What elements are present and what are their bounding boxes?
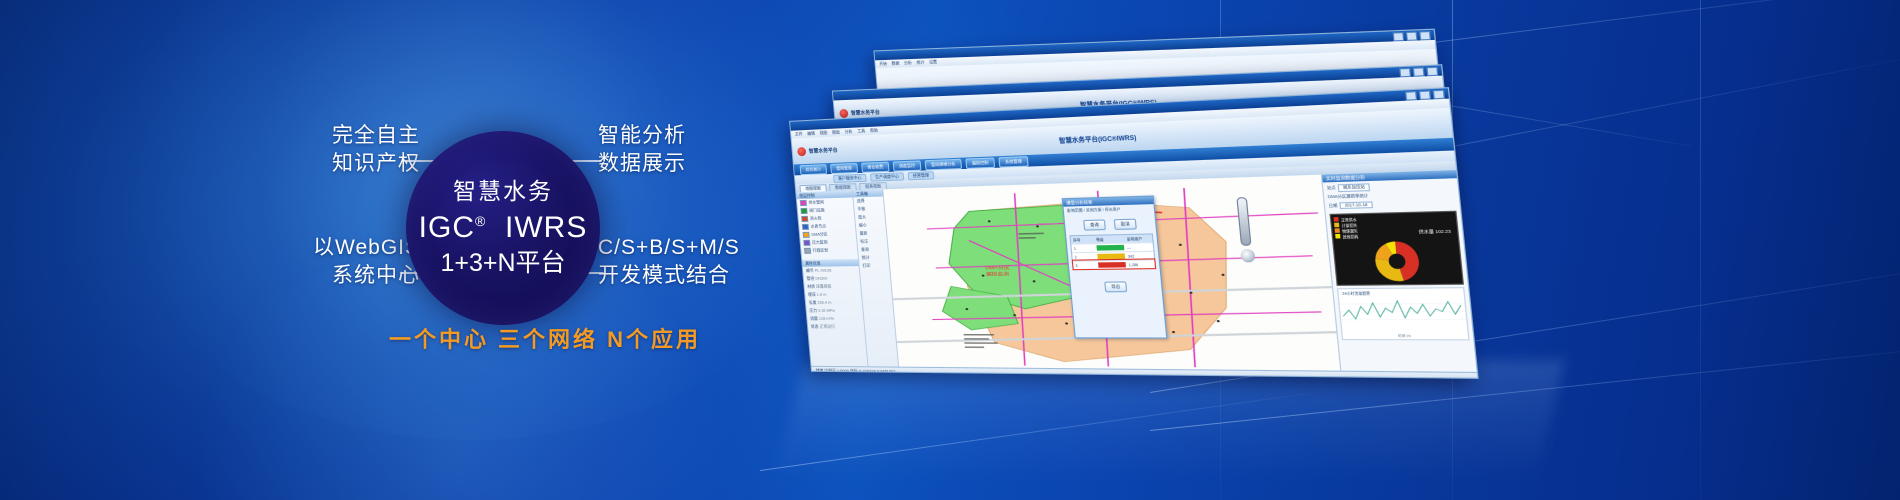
- subnav-item[interactable]: 客户服务中心: [833, 173, 867, 182]
- property-value: DN300: [815, 276, 827, 281]
- menu-item[interactable]: 统计: [916, 60, 924, 66]
- layer-swatch: [803, 240, 810, 246]
- property-row: 压力 0.32 MPa: [806, 307, 863, 315]
- nav-item[interactable]: 管网管理: [830, 162, 858, 173]
- layer-swatch: [800, 200, 807, 206]
- front-brand: 智慧水务平台: [808, 146, 837, 154]
- feature-line2: 开发模式结合: [598, 262, 740, 290]
- hub-circle: 智慧水务 IGC® IWRS 1+3+N平台: [406, 131, 600, 325]
- property-value: 球墨铸铁: [816, 284, 832, 289]
- layer-label: 行政区划: [813, 248, 829, 253]
- company-logo-icon: [839, 108, 848, 117]
- row-index: 2: [1072, 253, 1096, 260]
- column-header: 影响用户: [1124, 235, 1152, 243]
- burst-analysis-dialog[interactable]: 爆管分析结果 影响范围 / 关阀方案 / 停水用户 查询 取消 序号 等级 影响…: [1062, 195, 1168, 338]
- row-index: 3: [1073, 262, 1097, 269]
- trend-axis-label: 时间 (h): [1398, 333, 1412, 338]
- feature-label-top-left: 完全自主 知识产权: [300, 122, 420, 178]
- feature-label-bottom-right: C/S+B/S+M/S 开发模式结合: [598, 234, 740, 290]
- property-value: 正常运行: [819, 324, 835, 329]
- tool-item[interactable]: 打印: [859, 262, 889, 271]
- layer-label: 消火栓: [810, 216, 822, 221]
- menu-item[interactable]: 开始: [879, 61, 887, 67]
- flow-trend-chart: 24小时流量趋势 时间 (h): [1337, 287, 1470, 340]
- layer-label: 阀门设施: [809, 207, 825, 212]
- nav-item[interactable]: 综合展示: [800, 164, 828, 175]
- property-row: 长度 256.4 m: [806, 299, 863, 307]
- layer-swatch: [802, 224, 809, 230]
- menu-item[interactable]: 文件: [795, 131, 803, 137]
- menu-item[interactable]: 分析: [904, 60, 912, 66]
- front-gis-body: 图层控制 供水管网 阀门设施 消火栓 水表节点 DMA分区 压力监测 行政区划 …: [796, 170, 1476, 372]
- dialog-buttons[interactable]: 查询 取消: [1065, 218, 1156, 231]
- layer-swatch: [800, 208, 807, 214]
- property-key: 材质: [807, 284, 815, 289]
- leakage-donut-chart: 正常供水 计量损失 物理漏失 其他损耗 供水量 102.23: [1330, 211, 1464, 286]
- export-button[interactable]: 导出: [1104, 281, 1127, 292]
- feature-label-bottom-left: 以WebGIS 系统中心: [290, 234, 420, 290]
- level-bar: [1098, 262, 1126, 268]
- menu-item[interactable]: 视图: [819, 130, 827, 136]
- grid-vertical-right: [1700, 0, 1701, 500]
- gauge-title: 供水量 102.23: [1418, 228, 1451, 236]
- layer-label: 水表节点: [810, 224, 826, 229]
- feature-line1: 完全自主: [300, 122, 420, 150]
- window-front-gis[interactable]: 文件 编辑 视图 图层 分析 工具 帮助 智慧水务平台 智慧水务平台(IGC®I…: [789, 87, 1479, 379]
- front-menus: [793, 124, 794, 129]
- layer-label: 供水管网: [808, 199, 824, 204]
- map-canvas[interactable]: DMA分区 漏损监测 爆管分析结果 影响范围 / 关阀方案 / 停水用户 查询 …: [883, 175, 1340, 371]
- property-value: 128 m³/h: [819, 316, 835, 321]
- hub-line2: IGC® IWRS: [419, 208, 588, 247]
- subnav-item[interactable]: 生产调度中心: [870, 172, 904, 181]
- nav-item[interactable]: 漏损控制: [965, 157, 995, 169]
- nav-item[interactable]: 管网建模分析: [925, 158, 963, 170]
- feature-line2: 系统中心: [290, 262, 420, 290]
- layer-swatch: [803, 232, 810, 238]
- property-value: 256.4 m: [817, 300, 831, 305]
- property-key: 压力: [809, 308, 817, 313]
- donut-svg: [1370, 240, 1424, 282]
- nav-item[interactable]: 营业收费: [861, 161, 889, 172]
- layer-swatch: [804, 248, 811, 254]
- row-index: 1: [1071, 245, 1095, 252]
- field-label: 站点: [1327, 185, 1336, 191]
- front-title: 智慧水务平台(IGC®IWRS): [1059, 132, 1137, 145]
- back-menu-hints: [877, 53, 879, 58]
- feature-label-top-right: 智能分析 数据展示: [598, 122, 686, 178]
- trend-svg: [1339, 295, 1467, 328]
- nav-item[interactable]: 系统管理: [998, 156, 1028, 168]
- column-header: 序号: [1071, 236, 1095, 244]
- property-list: 编号 PL-00128 管径 DN300 材质 球墨铸铁 埋深 1.8 m 长度…: [803, 267, 865, 332]
- menu-item[interactable]: 编辑: [807, 131, 815, 137]
- table-header: 序号 等级 影响用户: [1071, 235, 1153, 244]
- menu-item[interactable]: 数据: [891, 60, 899, 66]
- level-bar: [1096, 245, 1124, 251]
- layer-item[interactable]: 行政区划: [801, 246, 857, 255]
- feature-line2: 数据展示: [598, 150, 686, 178]
- property-key: 编号: [806, 268, 814, 273]
- screenshot-stack: 遥感影像管网叠加: [800, 50, 1520, 370]
- mid-brand: 智慧水务平台: [851, 108, 880, 116]
- query-button[interactable]: 查询: [1083, 219, 1106, 230]
- hub-iwrs: IWRS: [505, 211, 587, 244]
- monitor-panel[interactable]: 实时监测数据分析 站点 城东加压站 DMA分区漏损率统计 日期 2017-10-…: [1321, 170, 1477, 372]
- field-label: 日期: [1328, 203, 1337, 209]
- hub-igc: IGC: [419, 211, 475, 244]
- property-value: 0.32 MPa: [818, 308, 835, 313]
- layer-list[interactable]: 供水管网 阀门设施 消火栓 水表节点 DMA分区 压力监测 行政区划: [797, 197, 858, 255]
- window-controls[interactable]: [1392, 30, 1430, 40]
- mid-title-hint: [836, 93, 838, 98]
- donut-legend: 正常供水 计量损失 物理漏失 其他损耗: [1333, 217, 1358, 240]
- menu-item[interactable]: 帮助: [870, 128, 878, 134]
- property-value: PL-00128: [814, 268, 831, 273]
- layer-swatch: [801, 216, 808, 222]
- property-row: 流量 128 m³/h: [807, 315, 864, 323]
- feature-line1: C/S+B/S+M/S: [598, 234, 740, 262]
- property-key: 长度: [809, 300, 817, 305]
- banner-stage: 完全自主 知识产权 以WebGIS 系统中心 智慧水务 IGC® IWRS 1+…: [0, 0, 1900, 500]
- registered-icon: ®: [475, 213, 486, 229]
- legend-label: 其他损耗: [1343, 235, 1359, 240]
- column-header: 等级: [1094, 235, 1126, 243]
- feature-line1: 智能分析: [598, 122, 686, 150]
- level-bar: [1097, 253, 1125, 259]
- dialog-footer[interactable]: 导出: [1070, 273, 1162, 293]
- tagline: 一个中心 三个网络 N个应用: [355, 322, 735, 354]
- pan-pad-icon[interactable]: [1240, 249, 1255, 262]
- row-users: 342: [1125, 252, 1154, 259]
- property-value: 1.8 m: [817, 292, 827, 297]
- row-users: 1,286: [1126, 261, 1155, 268]
- property-row: 状态 正常运行: [808, 323, 865, 331]
- layer-label: 压力监测: [812, 240, 828, 245]
- table-row[interactable]: 3 1,286: [1073, 259, 1155, 269]
- layer-label: DMA分区: [811, 232, 828, 237]
- feature-line1: 以WebGIS: [290, 234, 420, 262]
- property-key: 流量: [810, 316, 818, 321]
- dialog-table: 序号 等级 影响用户 1 — 2: [1069, 233, 1156, 270]
- row-users: —: [1125, 244, 1154, 251]
- hub-line3: 1+3+N平台: [440, 247, 565, 280]
- menu-item[interactable]: 设置: [929, 59, 937, 65]
- hub-line1: 智慧水务: [453, 177, 553, 206]
- feature-line2: 知识产权: [300, 150, 420, 178]
- nav-item[interactable]: 调度监控: [893, 160, 922, 171]
- menu-item[interactable]: 图层: [832, 129, 840, 135]
- menu-item[interactable]: 分析: [844, 129, 852, 135]
- field-value[interactable]: 城东加压站: [1338, 183, 1371, 192]
- menu-item[interactable]: 工具: [857, 128, 865, 134]
- property-key: 管径: [806, 276, 814, 281]
- company-logo-icon: [797, 147, 806, 156]
- subnav-item[interactable]: 经营管理: [908, 171, 935, 180]
- property-key: 状态: [811, 324, 819, 329]
- property-key: 埋深: [808, 292, 816, 297]
- cancel-button[interactable]: 取消: [1114, 219, 1137, 230]
- window-controls[interactable]: [1405, 89, 1445, 100]
- field-value[interactable]: 2017-10-18: [1340, 201, 1373, 209]
